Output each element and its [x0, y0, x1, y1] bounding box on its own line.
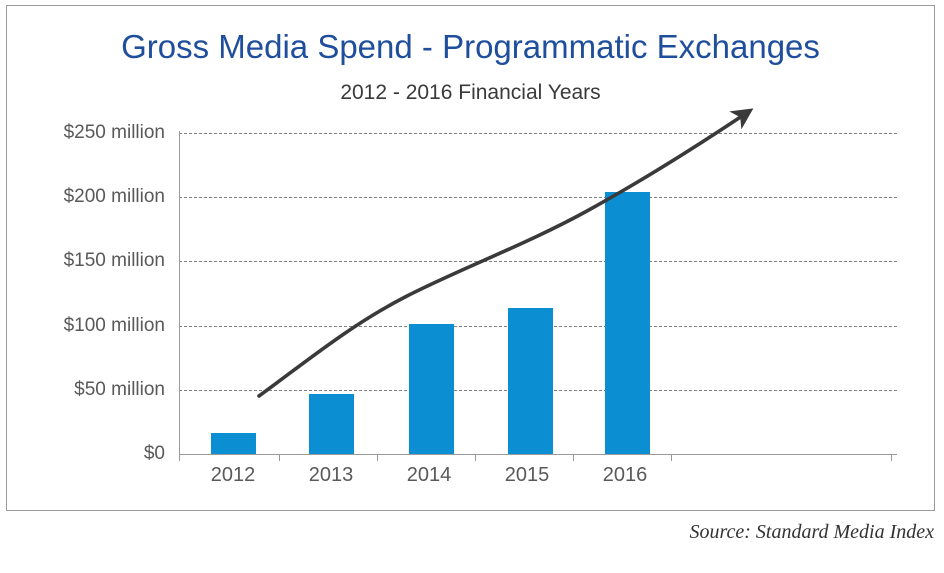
x-axis-tick-5	[671, 454, 672, 461]
x-axis-label-2015: 2015	[505, 464, 550, 487]
bar-2014[interactable]	[409, 324, 454, 454]
x-axis-line	[179, 454, 897, 455]
x-axis-tick-1	[279, 454, 280, 461]
chart-screenshot: Gross Media Spend - Programmatic Exchang…	[0, 0, 944, 573]
x-axis-label-2014: 2014	[407, 464, 452, 487]
x-axis-tick-3	[475, 454, 476, 461]
x-axis-label-2013: 2013	[309, 464, 354, 487]
chart-frame: Gross Media Spend - Programmatic Exchang…	[6, 5, 935, 511]
x-axis-tick-4	[573, 454, 574, 461]
bar-2012[interactable]	[211, 433, 256, 454]
bars-layer	[7, 6, 936, 454]
x-axis-label-2012: 2012	[211, 464, 256, 487]
bar-2016[interactable]	[605, 192, 650, 454]
bar-2015[interactable]	[508, 308, 553, 454]
source-note: Source: Standard Media Index	[689, 521, 934, 544]
bar-2013[interactable]	[309, 394, 354, 454]
x-axis-tick-6	[891, 454, 892, 461]
x-axis-tick-2	[377, 454, 378, 461]
x-axis-label-2016: 2016	[603, 464, 648, 487]
x-axis-tick-0	[179, 454, 180, 461]
